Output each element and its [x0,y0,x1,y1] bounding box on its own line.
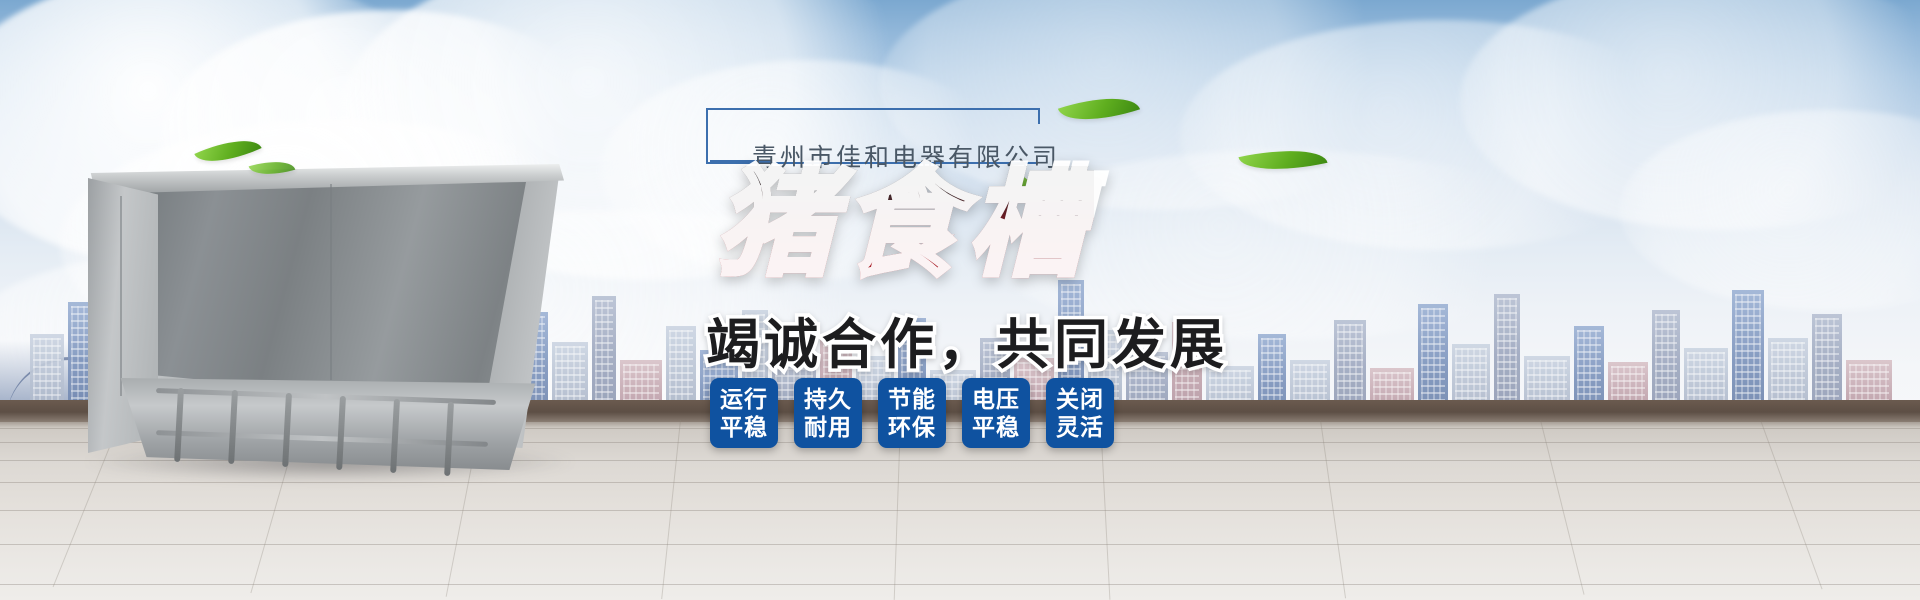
feature-badge[interactable]: 持久 耐用 [794,378,862,448]
cloud-shape [1180,20,1700,250]
badge-line-2: 耐用 [804,413,852,441]
badge-line-2: 环保 [888,413,936,441]
feature-badge[interactable]: 运行 平稳 [710,378,778,448]
badge-line-1: 运行 [720,385,768,413]
trough-interior [116,182,526,407]
badge-line-1: 电压 [972,385,1020,413]
badge-line-1: 关闭 [1056,385,1104,413]
badge-line-2: 灵活 [1056,413,1104,441]
feature-badge[interactable]: 节能 环保 [878,378,946,448]
cloud-shape [1460,0,1920,230]
feature-badge[interactable]: 电压 平稳 [962,378,1030,448]
promo-banner: 青州市佳和电器有限公司 猪食槽 猪食槽 竭诚合作，共同发展 运行 平稳 持久 耐… [0,0,1920,600]
feature-badge[interactable]: 关闭 灵活 [1046,378,1114,448]
badge-line-2: 平稳 [972,413,1020,441]
tagline: 竭诚合作，共同发展 [706,300,1228,379]
badge-line-1: 持久 [804,385,852,413]
feature-badge-list: 运行 平稳 持久 耐用 节能 环保 电压 平稳 关闭 灵活 [710,378,1114,448]
badge-line-1: 节能 [888,385,936,413]
page-title: 猪食槽 [716,166,1094,284]
panel-seam [330,184,332,380]
product-image-pig-feeder [60,150,580,470]
panel-seam [120,196,122,396]
badge-line-2: 平稳 [720,413,768,441]
